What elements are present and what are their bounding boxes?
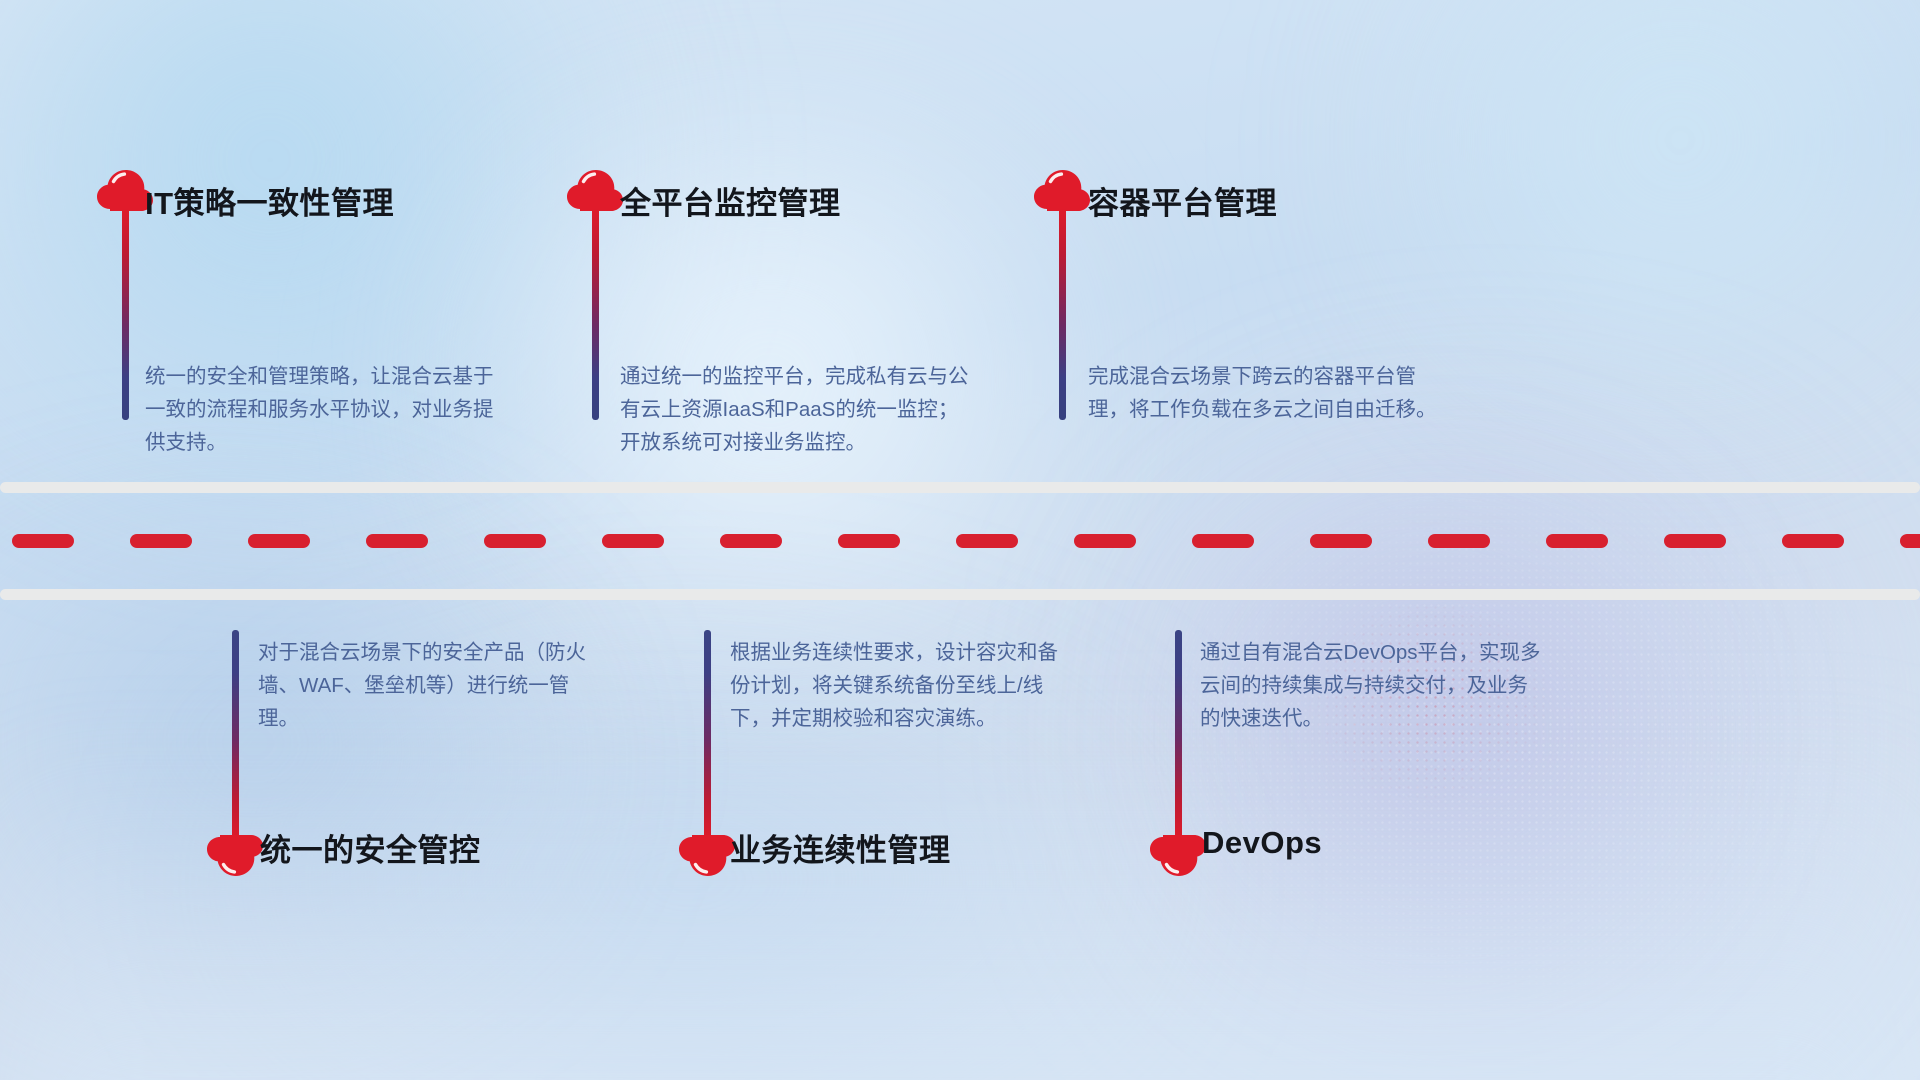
road-divider — [0, 482, 1920, 600]
road-dash — [12, 534, 74, 548]
road-dash — [1546, 534, 1608, 548]
road-dash — [1664, 534, 1726, 548]
glow-blob-blue-left — [0, 560, 560, 980]
connector-line-top-2 — [592, 208, 599, 420]
feature-description: 通过统一的监控平台，完成私有云与公有云上资源IaaS和PaaS的统一监控；开放系… — [620, 360, 972, 459]
glow-blob-cyan-top-right — [1300, 0, 1920, 400]
feature-description: 统一的安全和管理策略，让混合云基于一致的流程和服务水平协议，对业务提供支持。 — [145, 360, 495, 459]
feature-description: 完成混合云场景下跨云的容器平台管理，将工作负载在多云之间自由迁移。 — [1088, 360, 1438, 426]
road-dash — [366, 534, 428, 548]
road-edge-bottom — [0, 589, 1920, 600]
feature-heading: 业务连续性管理 — [730, 825, 951, 870]
road-dash — [1782, 534, 1844, 548]
road-dash — [1074, 534, 1136, 548]
road-dash-row — [12, 534, 1920, 548]
cloud-icon — [1148, 835, 1210, 881]
road-dash — [838, 534, 900, 548]
infographic-canvas: IT策略一致性管理 统一的安全和管理策略，让混合云基于一致的流程和服务水平协议，… — [0, 0, 1920, 1080]
cloud-icon — [1032, 165, 1094, 211]
cloud-icon — [205, 835, 267, 881]
connector-line-bottom-2 — [704, 630, 711, 842]
feature-description: 根据业务连续性要求，设计容灾和备份计划，将关键系统备份至线上/线下，并定期校验和… — [730, 636, 1078, 735]
cloud-icon — [565, 165, 627, 211]
connector-line-bottom-1 — [232, 630, 239, 842]
glow-wash-bottom — [0, 740, 1920, 1080]
road-edge-top — [0, 482, 1920, 493]
connector-line-bottom-3 — [1175, 630, 1182, 842]
road-dash — [1192, 534, 1254, 548]
road-dash — [484, 534, 546, 548]
road-dash — [248, 534, 310, 548]
road-dash — [956, 534, 1018, 548]
road-dash — [1900, 534, 1920, 548]
road-dash — [1428, 534, 1490, 548]
feature-heading: DevOps — [1202, 825, 1322, 861]
road-dash — [602, 534, 664, 548]
road-dash — [130, 534, 192, 548]
feature-heading: 统一的安全管控 — [260, 825, 481, 870]
road-dash — [720, 534, 782, 548]
connector-line-top-1 — [122, 208, 129, 420]
connector-line-top-3 — [1059, 208, 1066, 420]
feature-description: 通过自有混合云DevOps平台，实现多云间的持续集成与持续交付，及业务的快速迭代… — [1200, 636, 1548, 735]
feature-description: 对于混合云场景下的安全产品（防火墙、WAF、堡垒机等）进行统一管理。 — [258, 636, 606, 735]
feature-heading: 容器平台管理 — [1088, 178, 1277, 223]
feature-heading: IT策略一致性管理 — [145, 178, 394, 223]
road-dash — [1310, 534, 1372, 548]
feature-heading: 全平台监控管理 — [620, 178, 841, 223]
